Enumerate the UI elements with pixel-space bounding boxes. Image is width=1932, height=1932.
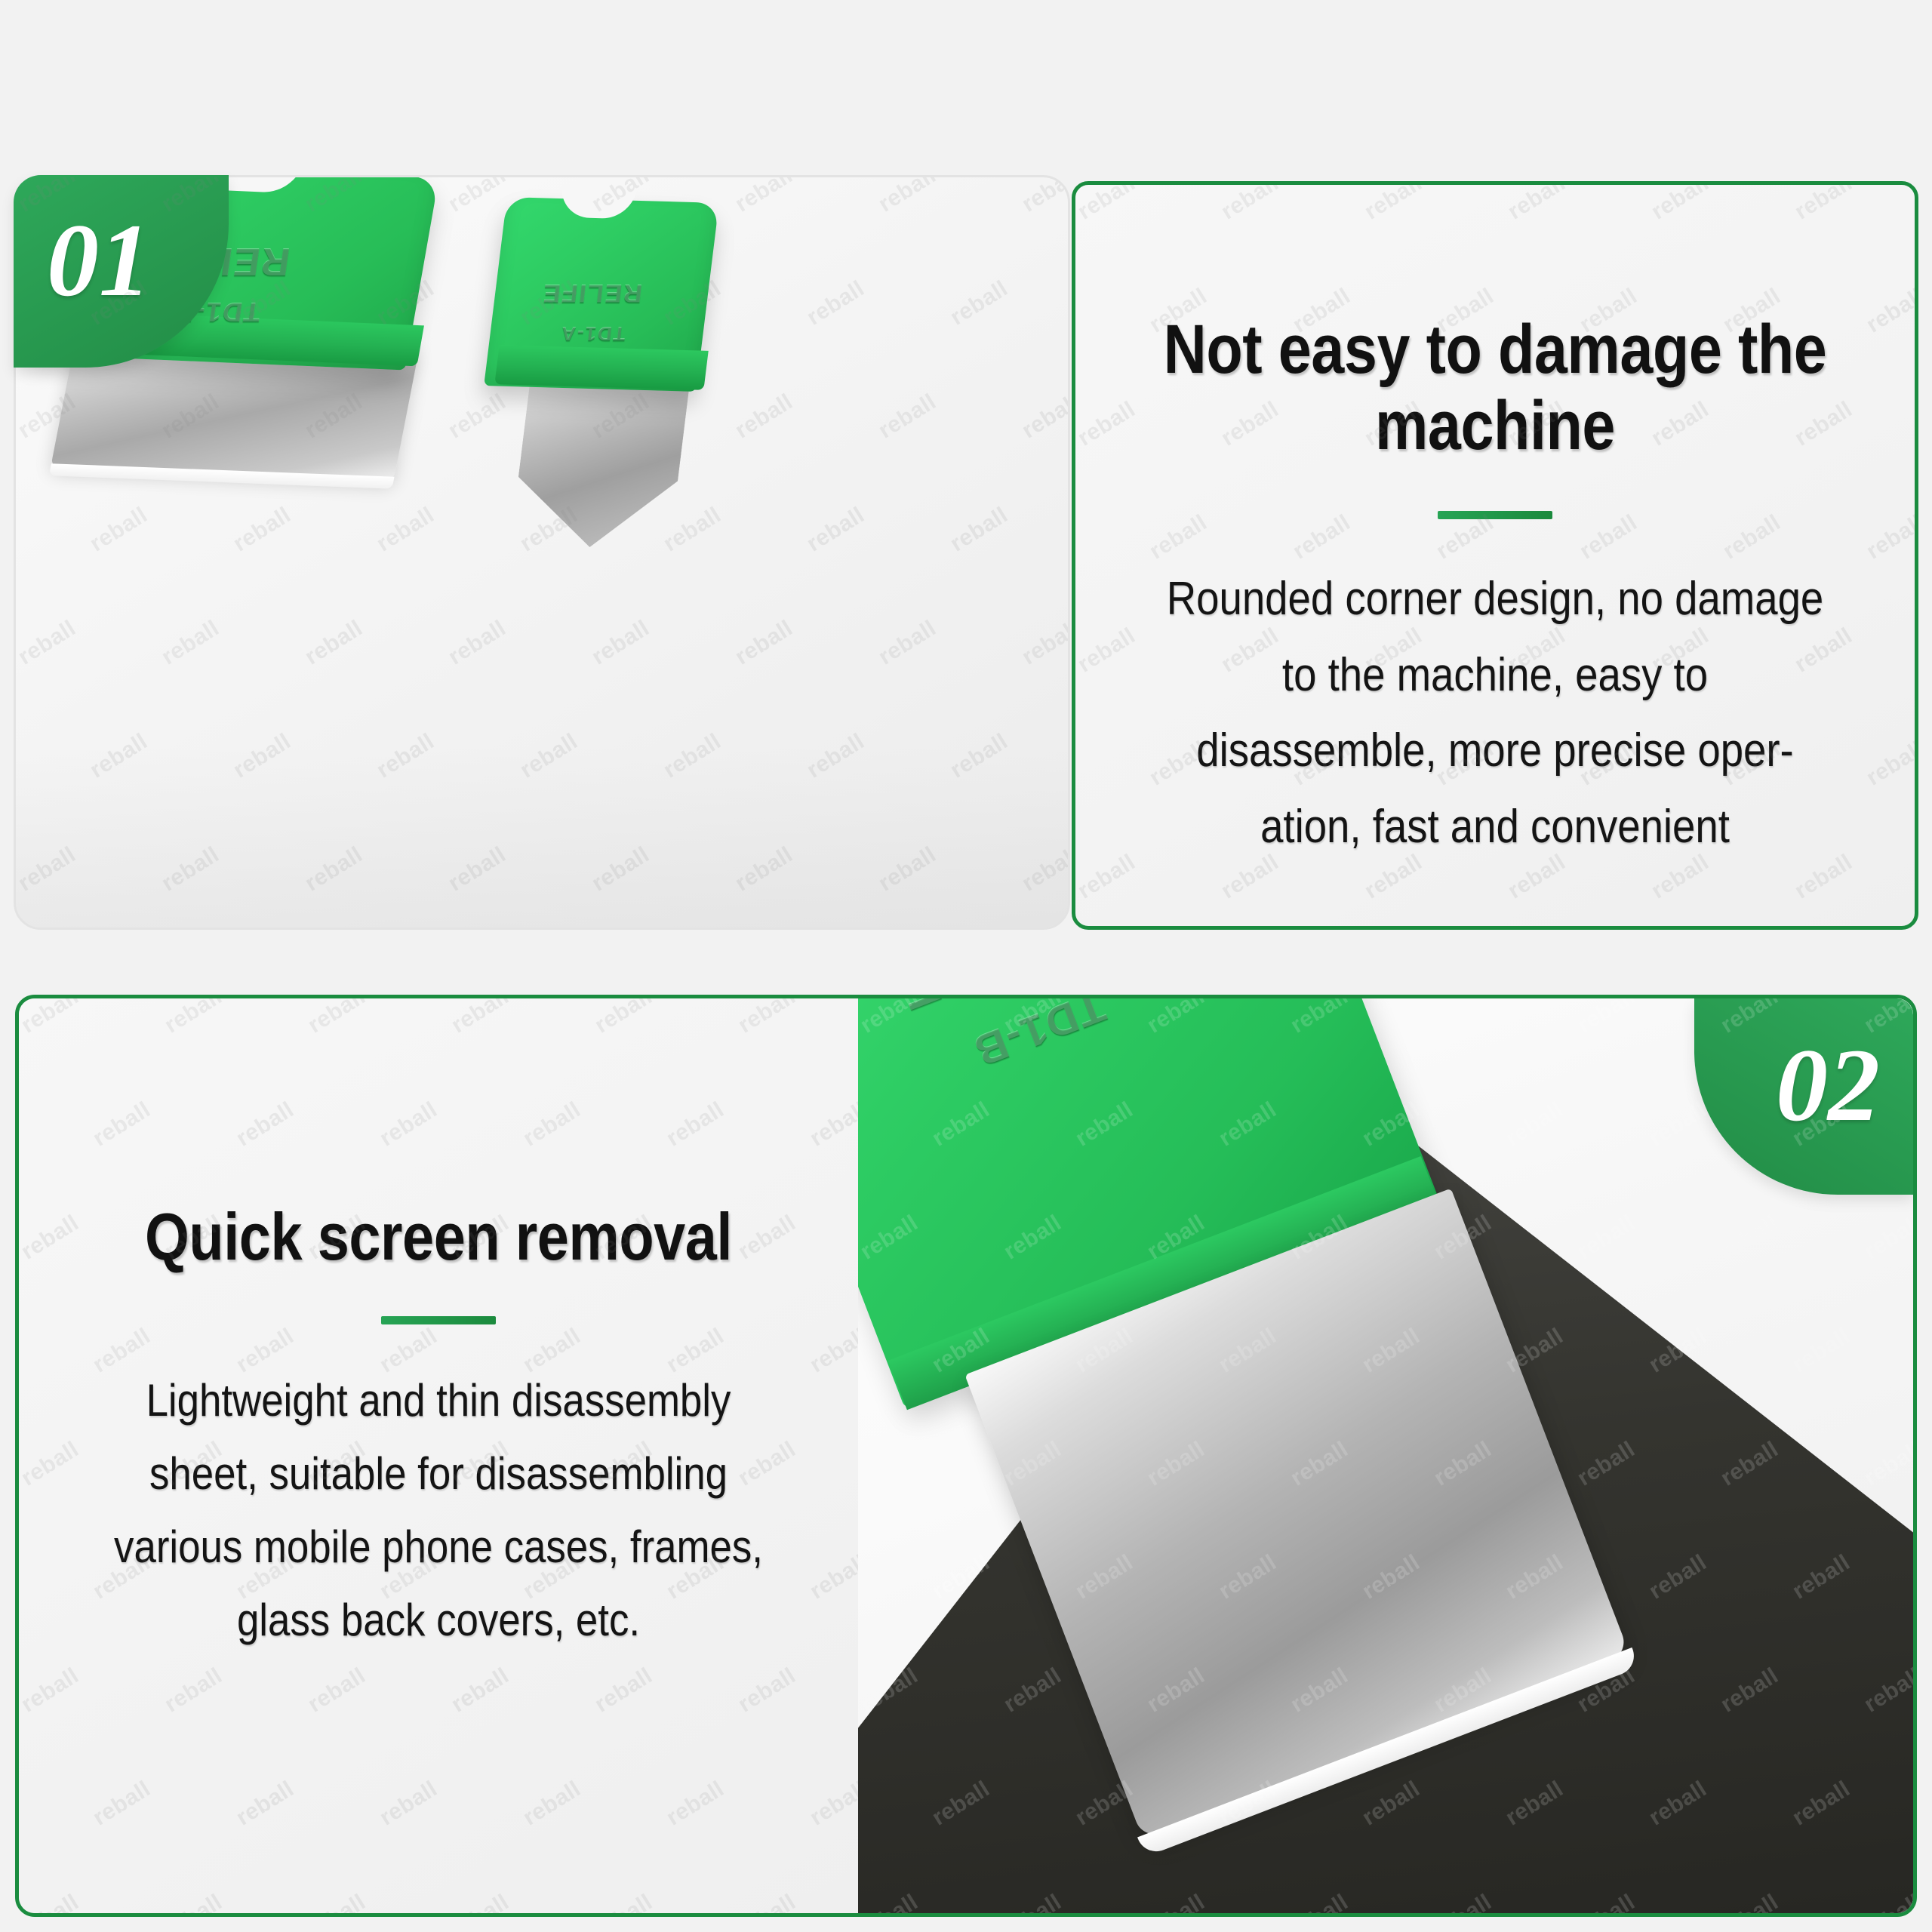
watermark-text: reball bbox=[160, 1890, 226, 1913]
watermark-text: reball bbox=[659, 729, 725, 784]
watermark-text: reball bbox=[1217, 185, 1283, 225]
watermark-text: reball bbox=[1288, 510, 1355, 565]
watermark-text: reball bbox=[375, 1097, 441, 1152]
watermark-text: reball bbox=[1644, 1097, 1711, 1152]
product-tool-td1a: RELIFE TD1-A bbox=[488, 200, 737, 608]
watermark-text: reball bbox=[1647, 185, 1713, 225]
tool-brand-emboss: RELIFE bbox=[540, 278, 644, 308]
watermark-text: reball bbox=[1718, 510, 1785, 565]
watermark-text: reball bbox=[16, 842, 81, 897]
watermark-text: reball bbox=[232, 1097, 298, 1152]
watermark-text: reball bbox=[874, 616, 940, 671]
watermark-text: reball bbox=[1017, 389, 1068, 445]
feature-body-02: Lightweight and thin disassembly sheet, … bbox=[69, 1364, 808, 1657]
watermark-text: reball bbox=[375, 1777, 441, 1832]
watermark-text: reball bbox=[447, 998, 513, 1038]
watermark-text: reball bbox=[731, 177, 797, 217]
watermark-text: reball bbox=[19, 1211, 84, 1266]
watermark-text: reball bbox=[160, 1663, 226, 1718]
watermark-text: reball bbox=[157, 616, 223, 671]
watermark-text: reball bbox=[731, 616, 797, 671]
tool-model-emboss: TD1-A bbox=[558, 322, 626, 346]
feature-heading-01: Not easy to damage the machine bbox=[1134, 312, 1856, 464]
watermark-text: reball bbox=[1860, 1437, 1917, 1492]
watermark-text: reball bbox=[1360, 185, 1426, 225]
step-number-label: 01 bbox=[47, 208, 151, 312]
watermark-text: reball bbox=[1573, 998, 1639, 1038]
watermark-text: reball bbox=[805, 1324, 858, 1379]
watermark-text: reball bbox=[1862, 737, 1915, 792]
watermark-text: reball bbox=[300, 616, 367, 671]
watermark-text: reball bbox=[88, 1097, 155, 1152]
watermark-text: reball bbox=[1145, 510, 1211, 565]
watermark-text: reball bbox=[874, 842, 940, 897]
watermark-text: reball bbox=[232, 1777, 298, 1832]
feature-text-card-01: Not easy to damage the machine Rounded c… bbox=[1072, 181, 1918, 930]
watermark-text: reball bbox=[19, 1663, 84, 1718]
heading-divider bbox=[381, 1316, 496, 1324]
watermark-text: reball bbox=[1017, 177, 1068, 217]
watermark-text: reball bbox=[1862, 284, 1915, 339]
watermark-text: reball bbox=[444, 616, 510, 671]
watermark-text: reball bbox=[734, 1663, 800, 1718]
feature-panel-02: RELIFE TD1-B reballreballreballreballreb… bbox=[15, 995, 1917, 1917]
watermark-text: reball bbox=[805, 1550, 858, 1605]
watermark-text: reball bbox=[518, 1097, 585, 1152]
watermark-text: reball bbox=[874, 389, 940, 445]
watermark-text: reball bbox=[518, 1777, 585, 1832]
watermark-text: reball bbox=[157, 842, 223, 897]
watermark-text: reball bbox=[1075, 397, 1140, 452]
watermark-text: reball bbox=[587, 842, 654, 897]
watermark-text: reball bbox=[662, 1777, 728, 1832]
watermark-text: reball bbox=[590, 1890, 657, 1913]
feature-text-card-02: Quick screen removal Lightweight and thi… bbox=[19, 998, 858, 1913]
watermark-text: reball bbox=[731, 842, 797, 897]
product-tool-td1b: RELIFE TD1-B bbox=[858, 998, 1672, 1735]
watermark-text: reball bbox=[946, 729, 1012, 784]
watermark-text: reball bbox=[16, 616, 81, 671]
feature-body-01: Rounded corner design, no damage to the … bbox=[1126, 561, 1865, 865]
watermark-text: reball bbox=[229, 729, 295, 784]
tool-blade-pointed bbox=[510, 365, 692, 549]
watermark-text: reball bbox=[447, 1663, 513, 1718]
watermark-text: reball bbox=[303, 1663, 370, 1718]
watermark-text: reball bbox=[1860, 1211, 1917, 1266]
watermark-text: reball bbox=[303, 998, 370, 1038]
watermark-text: reball bbox=[300, 842, 367, 897]
watermark-text: reball bbox=[802, 503, 869, 558]
watermark-text: reball bbox=[1075, 185, 1140, 225]
watermark-text: reball bbox=[662, 1097, 728, 1152]
feature-section-01: RELIFE TD1-B RELIFE TD1-A reballreballre… bbox=[0, 0, 1932, 974]
watermark-text: reball bbox=[19, 1890, 84, 1913]
watermark-text: reball bbox=[160, 998, 226, 1038]
watermark-text: reball bbox=[303, 1890, 370, 1913]
watermark-text: reball bbox=[874, 177, 940, 217]
watermark-text: reball bbox=[802, 729, 869, 784]
watermark-text: reball bbox=[1017, 842, 1068, 897]
watermark-text: reball bbox=[731, 389, 797, 445]
watermark-text: reball bbox=[590, 1663, 657, 1718]
watermark-text: reball bbox=[590, 998, 657, 1038]
watermark-text: reball bbox=[1017, 616, 1068, 671]
watermark-text: reball bbox=[372, 729, 438, 784]
watermark-text: reball bbox=[515, 729, 582, 784]
feature-heading-02: Quick screen removal bbox=[78, 1201, 799, 1274]
watermark-text: reball bbox=[734, 998, 800, 1038]
watermark-text: reball bbox=[1788, 1324, 1854, 1379]
watermark-text: reball bbox=[1716, 1211, 1783, 1266]
watermark-text: reball bbox=[1503, 185, 1570, 225]
watermark-text: reball bbox=[805, 1777, 858, 1832]
watermark-text: reball bbox=[444, 842, 510, 897]
watermark-text: reball bbox=[734, 1890, 800, 1913]
heading-divider bbox=[1438, 511, 1552, 519]
watermark-text: reball bbox=[88, 1777, 155, 1832]
watermark-text: reball bbox=[19, 998, 84, 1038]
watermark-text: reball bbox=[85, 729, 152, 784]
watermark-text: reball bbox=[1862, 510, 1915, 565]
watermark-text: reball bbox=[447, 1890, 513, 1913]
feature-section-02: RELIFE TD1-B reballreballreballreballreb… bbox=[0, 995, 1932, 1917]
tool-handle-lip bbox=[494, 345, 708, 390]
watermark-text: reball bbox=[1790, 185, 1857, 225]
watermark-text: reball bbox=[805, 1097, 858, 1152]
step-number-label: 02 bbox=[1776, 1033, 1880, 1137]
watermark-text: reball bbox=[1575, 510, 1641, 565]
watermark-text: reball bbox=[946, 503, 1012, 558]
watermark-text: reball bbox=[802, 276, 869, 331]
watermark-text: reball bbox=[946, 276, 1012, 331]
infographic-page: RELIFE TD1-B RELIFE TD1-A reballreballre… bbox=[0, 0, 1932, 1932]
watermark-text: reball bbox=[587, 616, 654, 671]
